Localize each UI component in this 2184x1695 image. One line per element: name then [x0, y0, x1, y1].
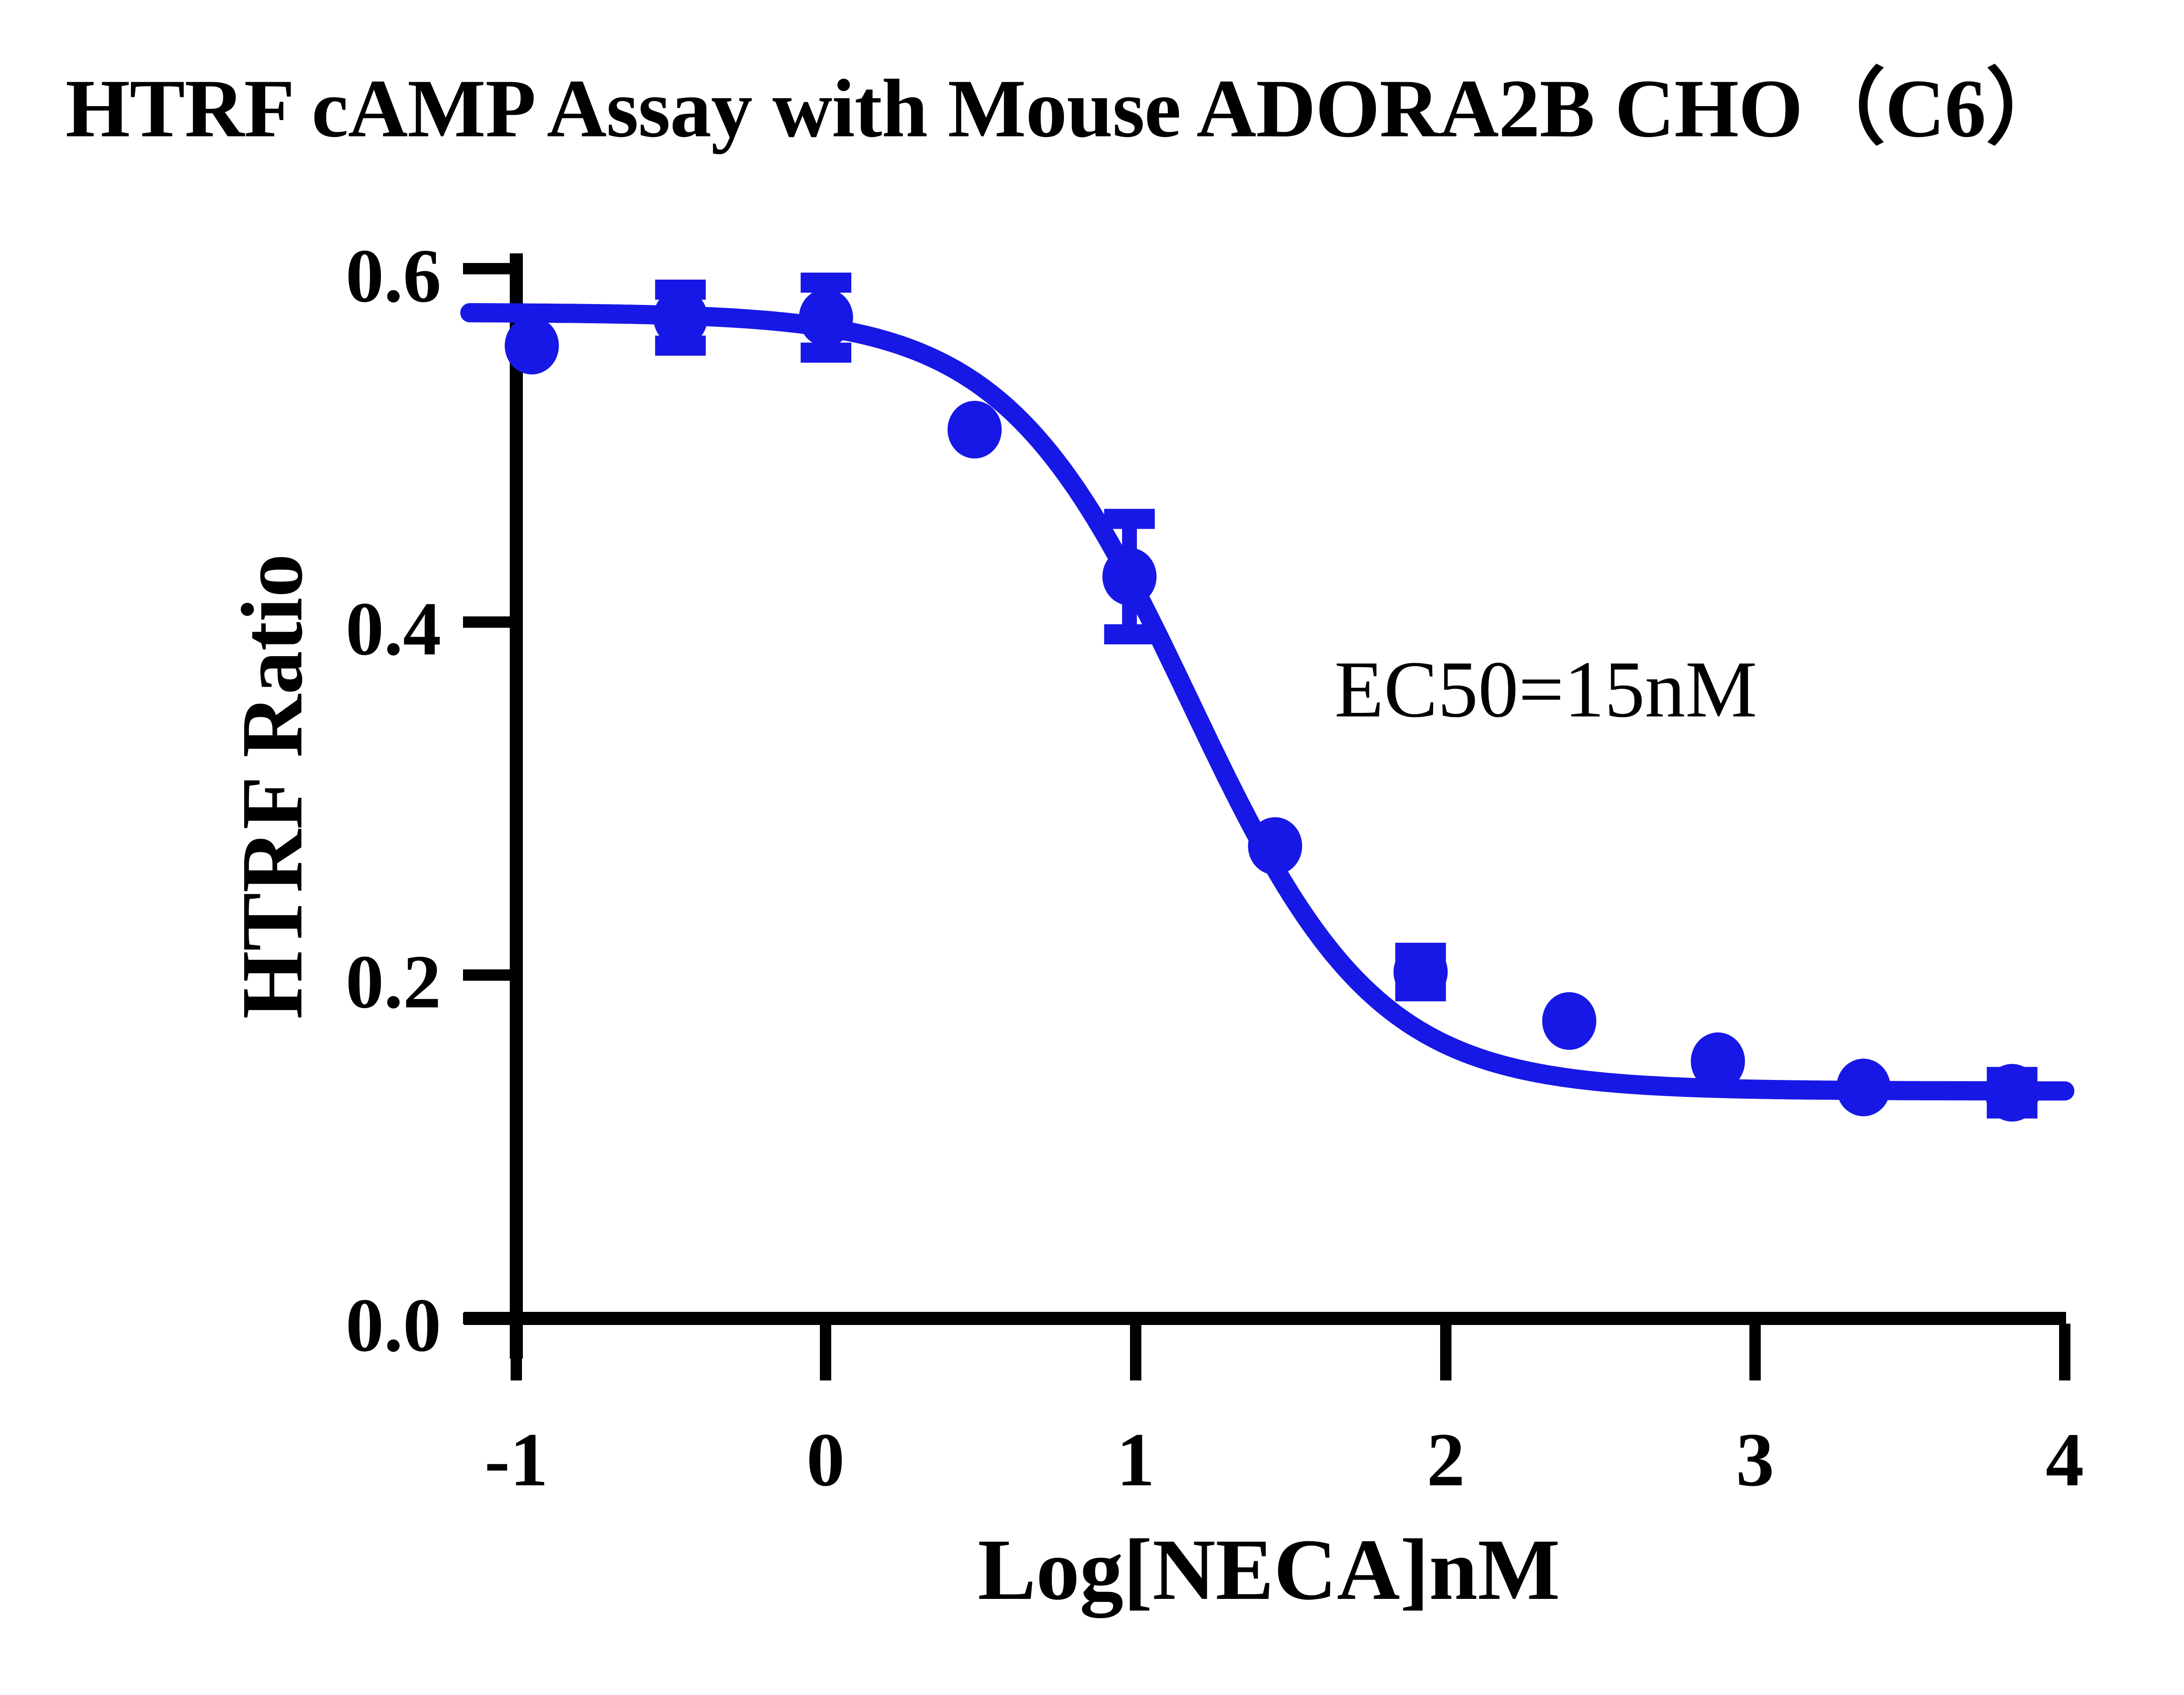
- data-point-marker: [1393, 943, 1448, 1001]
- data-point-marker: [1836, 1059, 1890, 1116]
- data-point-marker: [1542, 992, 1597, 1050]
- y-axis-title: HTRF Ratio: [224, 554, 321, 1019]
- x-tick-label-1: 1: [1116, 1417, 1155, 1502]
- x-tick-label--1: -1: [484, 1417, 548, 1502]
- data-point-marker: [1985, 1064, 2039, 1121]
- series-layer: [470, 283, 2065, 1121]
- data-point-marker: [1102, 548, 1157, 605]
- x-tick-label-4: 4: [2046, 1417, 2084, 1502]
- data-point-marker: [947, 401, 1002, 459]
- y-tick-label-0.4: 0.4: [346, 586, 441, 671]
- x-axis-title: Log[NECA]nM: [978, 1522, 1560, 1618]
- y-tick-marks: [463, 269, 516, 1318]
- fit-curve: [470, 313, 2065, 1091]
- x-tick-label-2: 2: [1427, 1417, 1465, 1502]
- chart-page: HTRF cAMP Assay with Mouse ADORA2B CHO（C…: [0, 0, 2184, 1695]
- x-tick-label-3: 3: [1736, 1417, 1774, 1502]
- data-point-marker: [653, 289, 708, 346]
- y-tick-label-0.2: 0.2: [346, 939, 441, 1024]
- x-tick-marks: [516, 1324, 2065, 1380]
- data-point-marker: [1691, 1032, 1745, 1090]
- y-tick-label-0.6: 0.6: [346, 233, 441, 318]
- data-point-marker: [1248, 817, 1302, 875]
- y-tick-label-0.0: 0.0: [346, 1283, 441, 1367]
- x-tick-label-0: 0: [806, 1417, 845, 1502]
- ec50-annotation: EC50=15nM: [1334, 645, 1757, 734]
- data-point-marker: [505, 317, 559, 374]
- plot-area: 0.6 0.4 0.2 0.0 -1 0 1 2 3 4 Log[NECA]nM…: [0, 0, 2184, 1695]
- data-point-marker: [799, 289, 853, 346]
